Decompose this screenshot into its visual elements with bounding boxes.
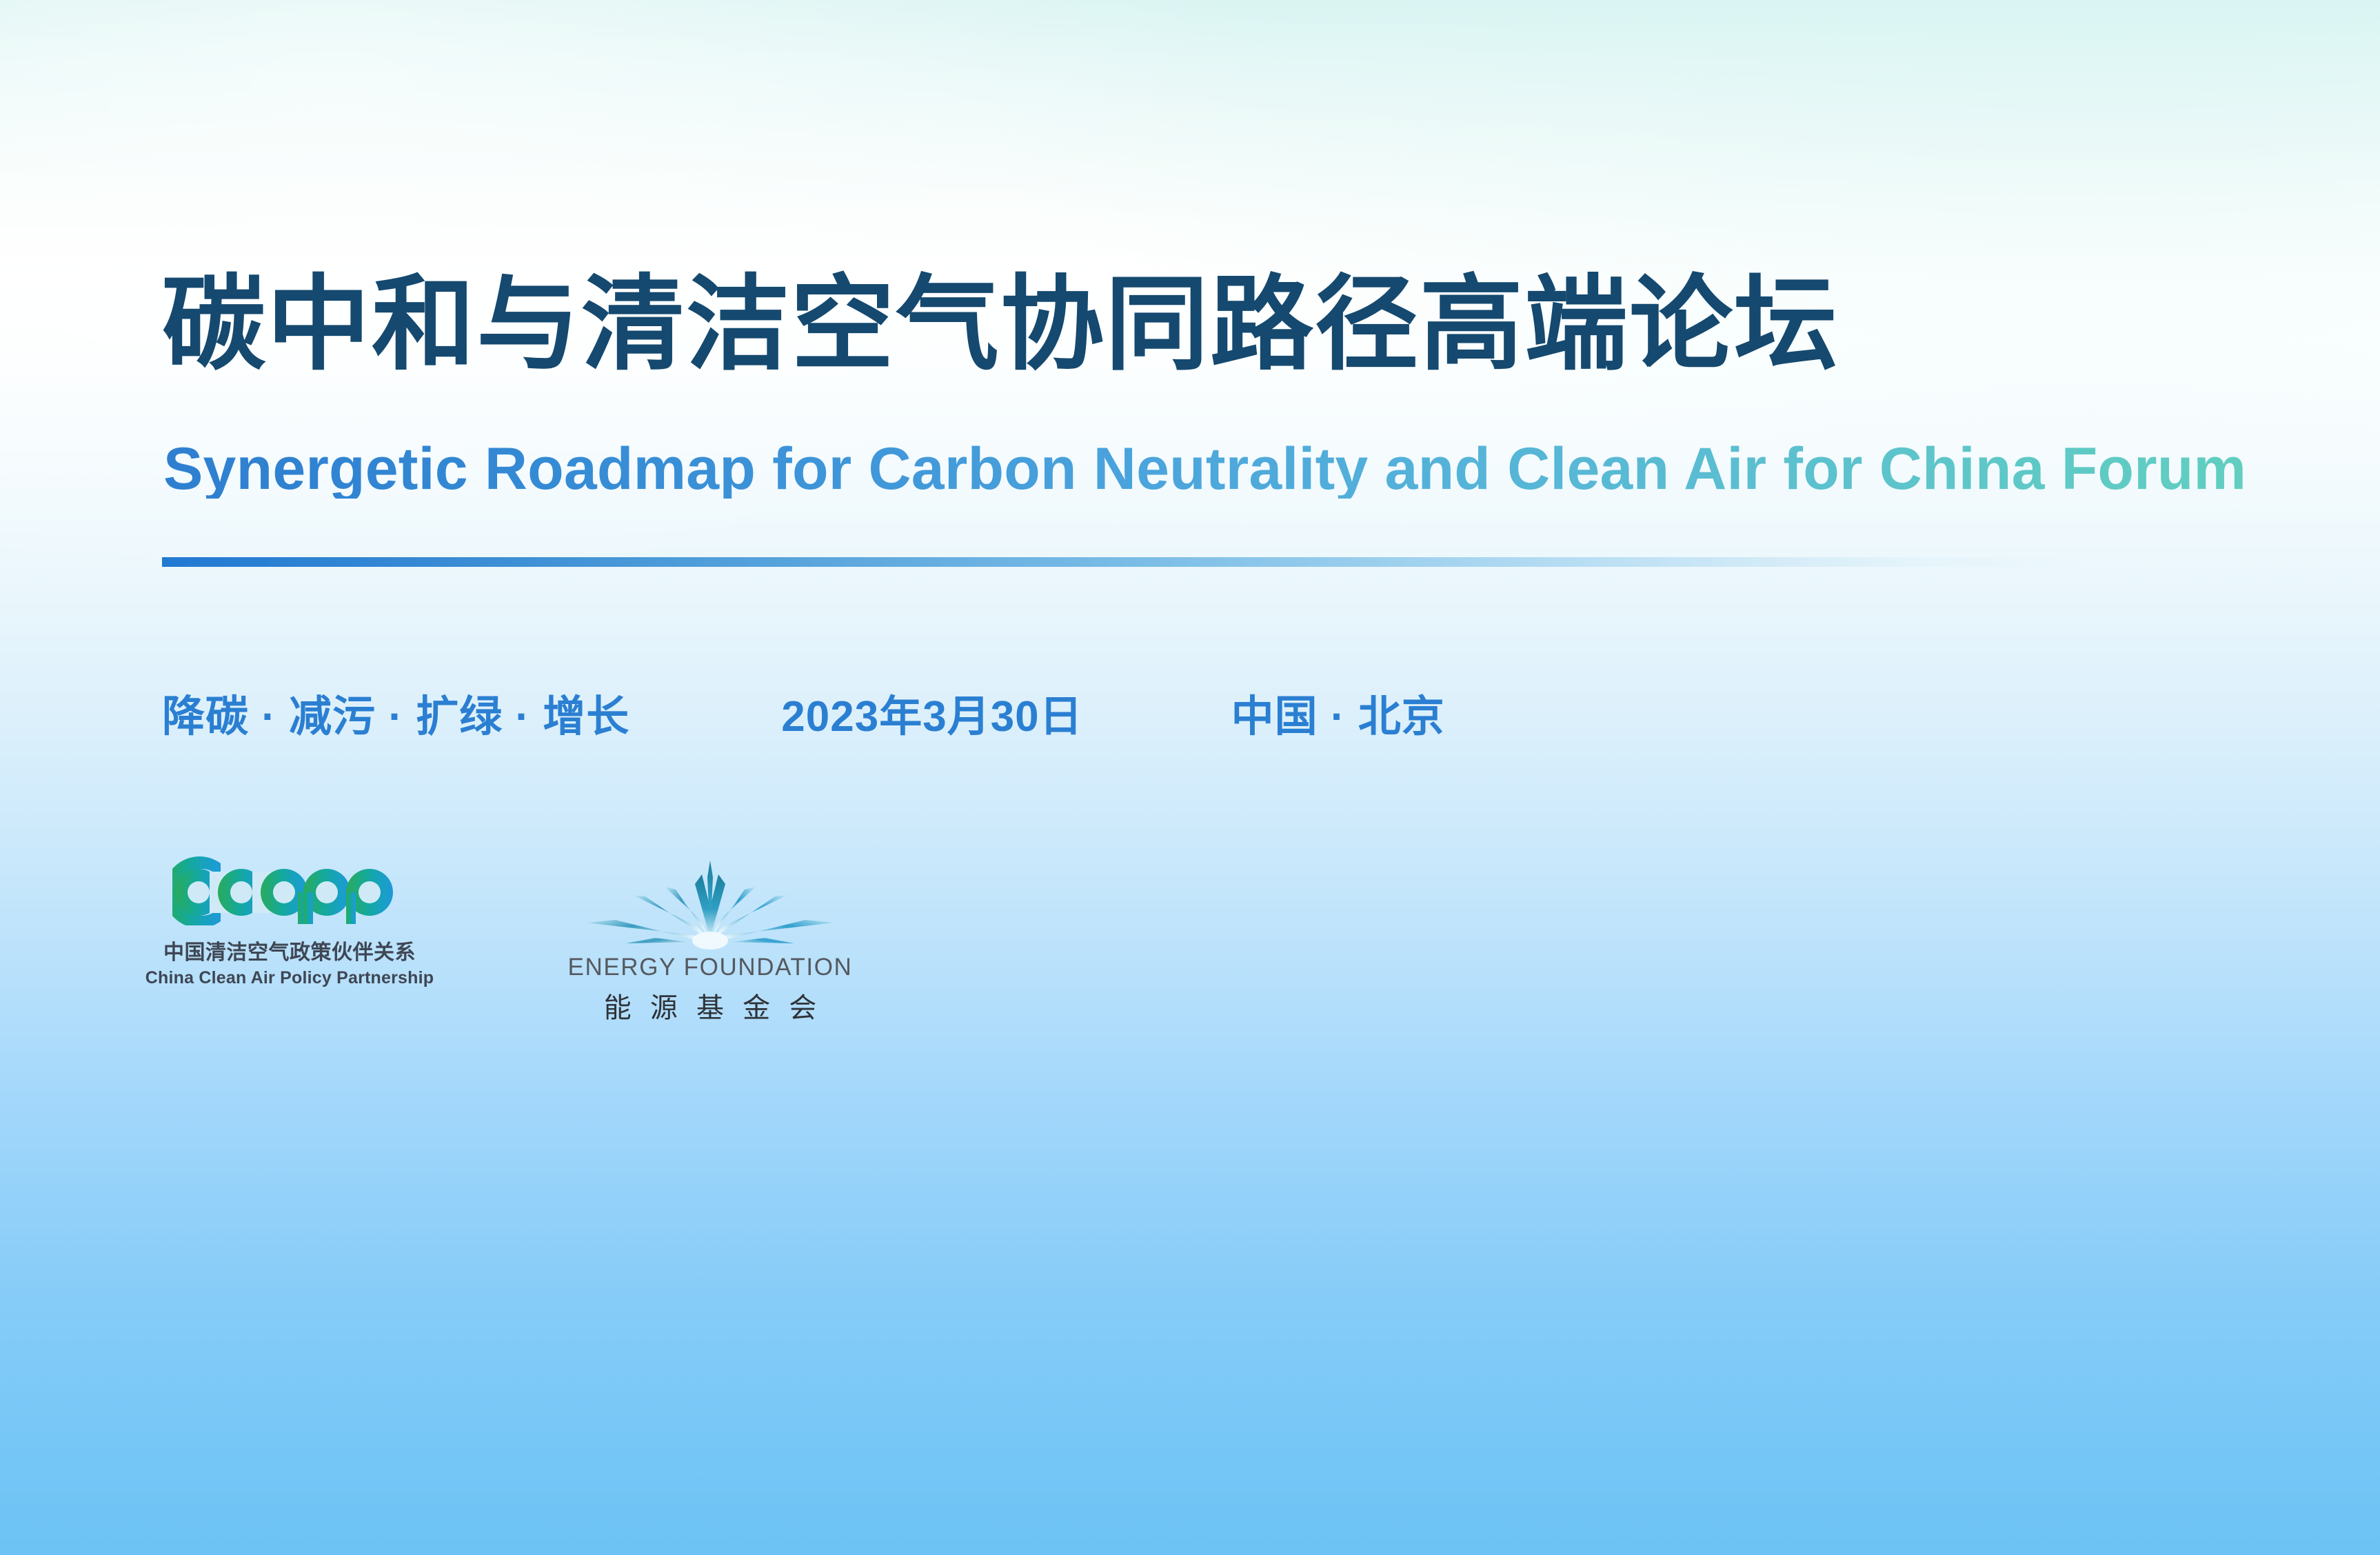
ccapp-name-en: China Clean Air Policy Partnership <box>145 968 434 988</box>
energy-foundation-name-cn: 能 源 基 金 会 <box>598 985 822 1025</box>
event-location: 中国 · 北京 <box>1231 681 1445 743</box>
logo-energy-foundation: ENERGY FOUNDATION 能 源 基 金 会 <box>565 856 855 1025</box>
event-banner: 碳中和与清洁空气协同路径高端论坛 Synergetic Roadmap for … <box>0 0 2380 1555</box>
sponsor-logos: 中国清洁空气政策伙伴关系 China Clean Air Policy Part… <box>162 856 855 1025</box>
divider <box>162 557 2092 567</box>
starburst-icon <box>572 856 848 950</box>
logo-ccapp: 中国清洁空气政策伙伴关系 China Clean Air Policy Part… <box>162 856 417 988</box>
ccapp-name-cn: 中国清洁空气政策伙伴关系 <box>163 935 416 965</box>
event-tagline: 降碳 · 减污 · 扩绿 · 增长 <box>162 681 629 743</box>
ccapp-wordmark-icon <box>172 856 407 925</box>
page-subtitle: Synergetic Roadmap for Carbon Neutrality… <box>163 439 2246 499</box>
event-date: 2023年3月30日 <box>781 681 1082 743</box>
energy-foundation-name-en: ENERGY FOUNDATION <box>568 954 853 981</box>
event-meta-row: 降碳 · 减污 · 扩绿 · 增长 2023年3月30日 中国 · 北京 <box>162 681 1445 743</box>
page-title: 碳中和与清洁空气协同路径高端论坛 <box>162 272 1839 376</box>
